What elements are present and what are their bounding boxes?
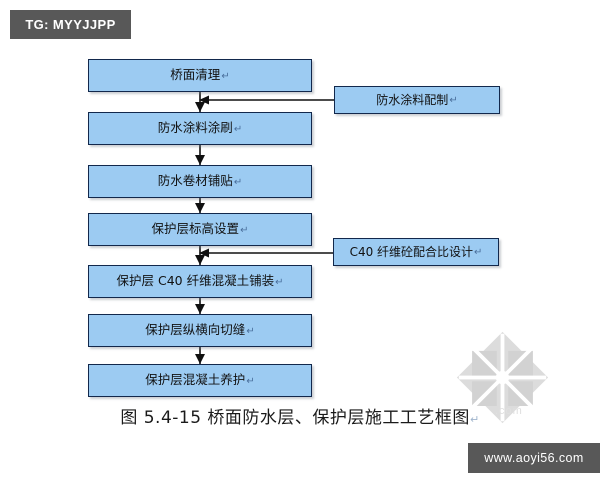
paragraph-mark-icon: ↵ — [275, 278, 283, 288]
node-label: 保护层标高设置 — [152, 223, 240, 236]
node-label: 防水卷材铺贴 — [158, 175, 233, 188]
flow-node-waterproof-coating-application[interactable]: 防水涂料涂刷↵ — [88, 112, 312, 145]
node-label: 防水涂料涂刷 — [158, 122, 233, 135]
flow-node-c40-fiber-concrete-mix-design[interactable]: C40 纤维砼配合比设计↵ — [333, 238, 499, 266]
node-label: C40 纤维砼配合比设计 — [350, 246, 473, 258]
paragraph-mark-icon: ↵ — [246, 327, 254, 337]
node-label: 桥面清理 — [170, 69, 220, 82]
figure-caption: 图 5.4-15 桥面防水层、保护层施工工艺框图↵ — [0, 403, 600, 428]
diagram-canvas: .com — [0, 0, 600, 480]
paragraph-mark-icon: ↵ — [234, 178, 242, 188]
flow-node-c40-fiber-concrete-paving[interactable]: 保护层 C40 纤维混凝土铺装↵ — [88, 265, 312, 298]
paragraph-mark-icon: ↵ — [470, 413, 480, 426]
flow-node-protective-layer-elevation-setting[interactable]: 保护层标高设置↵ — [88, 213, 312, 246]
flow-node-waterproof-membrane-laying[interactable]: 防水卷材铺贴↵ — [88, 165, 312, 198]
node-label: 保护层 C40 纤维混凝土铺装 — [117, 275, 275, 288]
figure-caption-text: 图 5.4-15 桥面防水层、保护层施工工艺框图 — [120, 408, 470, 428]
bottom-right-watermark-badge: www.aoyi56.com — [468, 443, 600, 473]
paragraph-mark-icon: ↵ — [234, 125, 242, 135]
flow-node-protective-layer-joint-cutting[interactable]: 保护层纵横向切缝↵ — [88, 314, 312, 347]
paragraph-mark-icon: ↵ — [474, 248, 482, 258]
flow-node-protective-layer-concrete-curing[interactable]: 保护层混凝土养护↵ — [88, 364, 312, 397]
paragraph-mark-icon: ↵ — [449, 96, 457, 106]
paragraph-mark-icon: ↵ — [246, 377, 254, 387]
top-left-watermark-badge: TG: MYYJJPP — [10, 10, 131, 39]
paragraph-mark-icon: ↵ — [221, 72, 229, 82]
node-label: 保护层纵横向切缝 — [145, 324, 245, 337]
paragraph-mark-icon: ↵ — [240, 226, 248, 236]
flow-node-bridge-deck-cleaning[interactable]: 桥面清理↵ — [88, 59, 312, 92]
node-label: 保护层混凝土养护 — [145, 374, 245, 387]
node-label: 防水涂料配制 — [376, 94, 448, 106]
flow-node-waterproof-coating-preparation[interactable]: 防水涂料配制↵ — [334, 86, 500, 114]
